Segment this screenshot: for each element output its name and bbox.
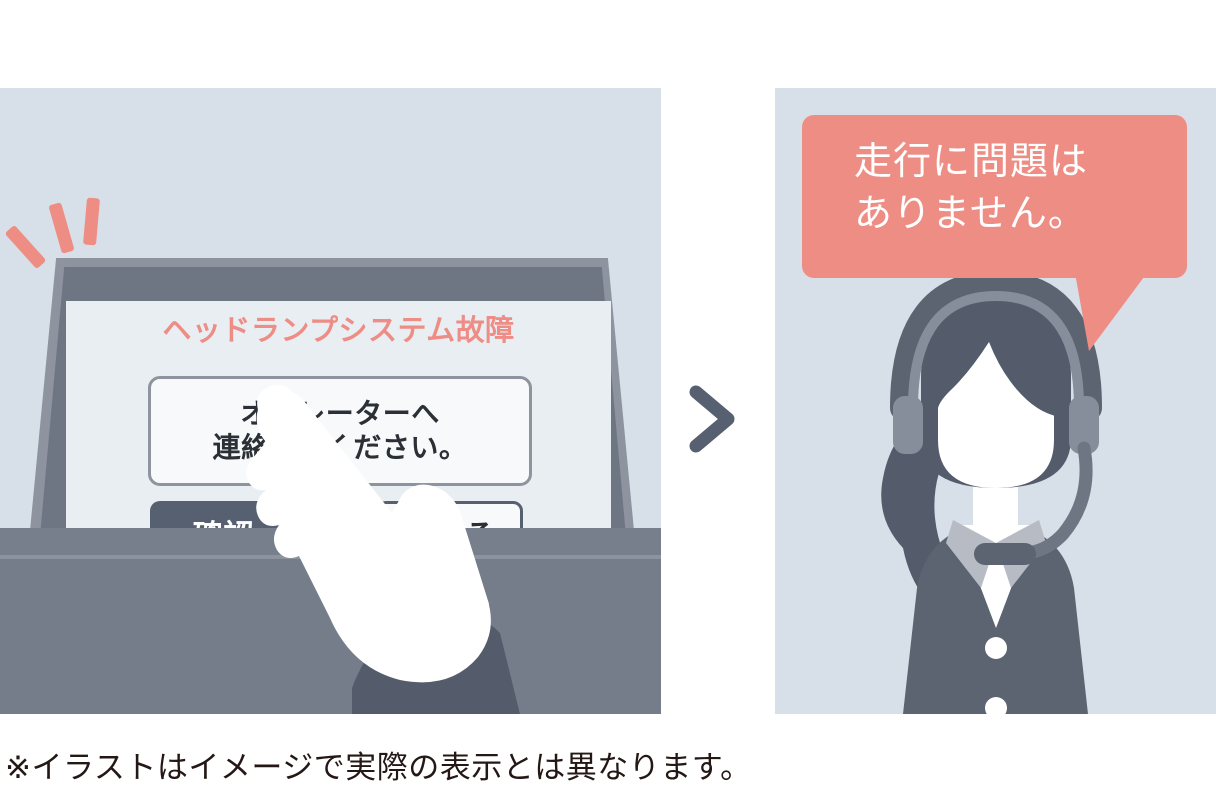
disclaimer-caption: ※イラストはイメージで実際の表示とは異なります。 (5, 742, 752, 787)
alert-message-line-1: オペレーターへ (240, 397, 440, 431)
burst-mark-3-icon (83, 198, 100, 246)
illustration-stage: ヘッドランプシステム故障 オペレーターへ 連絡してください。 確認 閉じる (0, 0, 1216, 810)
right-panel-operator-scene: 走行に問題は ありません。 (775, 88, 1216, 714)
left-panel-tablet-scene: ヘッドランプシステム故障 オペレーターへ 連絡してください。 確認 閉じる (0, 88, 661, 714)
chevron-right-icon (686, 384, 740, 454)
alert-message-box: オペレーターへ 連絡してください。 (148, 376, 532, 486)
speech-bubble-text: 走行に問題は ありません。 (854, 137, 1088, 240)
dashboard-upper-shade (0, 528, 661, 555)
alert-message-line-2: 連絡してください。 (213, 431, 468, 465)
dashboard-highlight-line (0, 555, 661, 559)
burst-mark-1-icon (5, 225, 47, 269)
alert-title: ヘッドランプシステム故障 (66, 317, 611, 346)
speech-bubble-tail (1075, 273, 1165, 353)
speech-bubble: 走行に問題は ありません。 (802, 115, 1187, 278)
burst-mark-2-icon (48, 202, 74, 254)
